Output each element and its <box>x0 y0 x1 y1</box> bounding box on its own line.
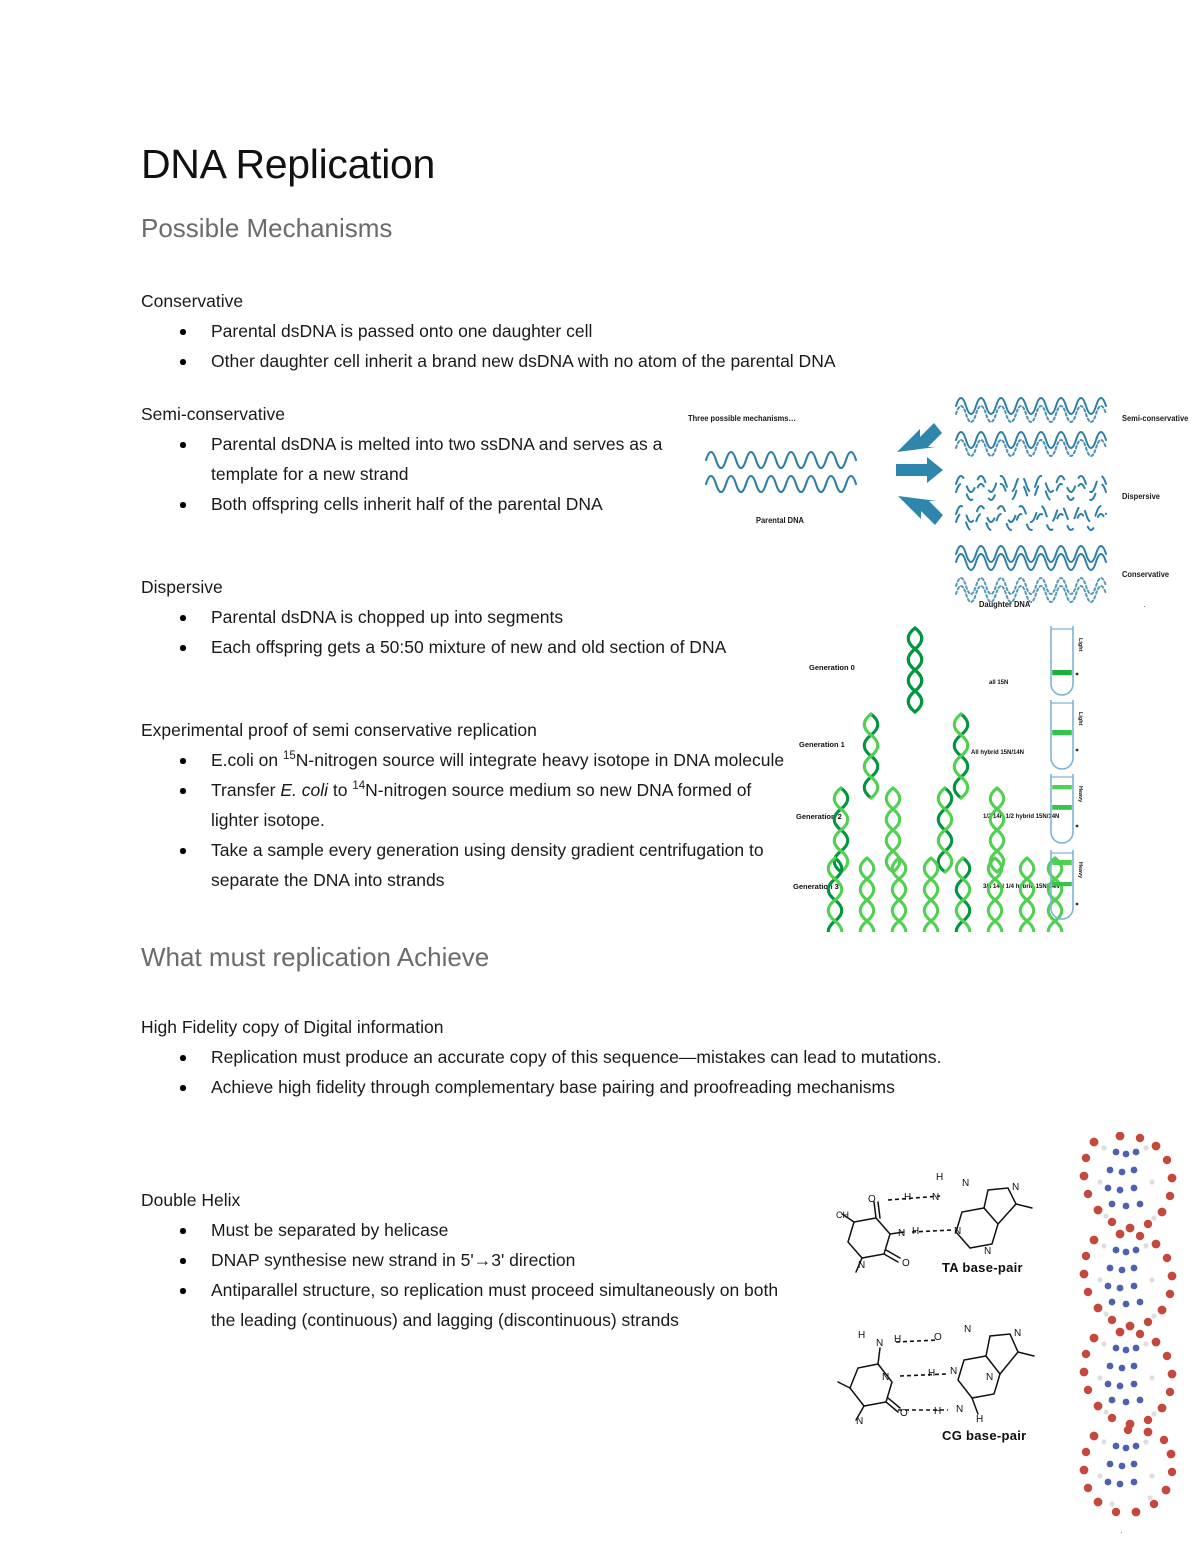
arrow-to-conservative <box>898 496 943 525</box>
svg-text:N: N <box>986 1372 993 1383</box>
group-lead: Double Helix <box>141 1185 806 1215</box>
list-item: Parental dsDNA is passed onto one daught… <box>141 316 836 346</box>
superscript-14: 14 <box>352 780 365 792</box>
dna-helix-model-svg <box>1072 1132 1194 1522</box>
group-experimental-proof: Experimental proof of semi conservative … <box>141 715 801 895</box>
hydrogen-bond <box>888 1196 952 1232</box>
list-item-transfer-14n: Transfer E. coli to 14N-nitrogen source … <box>141 775 801 835</box>
band-light <box>1052 785 1072 789</box>
svg-text:N: N <box>876 1338 883 1349</box>
run-text: E.coli on <box>211 750 283 770</box>
mechanisms-svg <box>684 392 1200 614</box>
figure-meselson-stahl: Generation 0 Generation 1 Generation 2 G… <box>793 618 1093 932</box>
meselson-stahl-svg <box>793 618 1093 932</box>
run-text: N-nitrogen source will integrate heavy i… <box>296 750 784 770</box>
list-item: Replication must produce an accurate cop… <box>141 1042 1021 1072</box>
figure-caption-ta-base-pair: TA base-pair <box>942 1260 1023 1275</box>
list-item: Achieve high fidelity through complement… <box>141 1072 1021 1102</box>
figure-cg-base-pair: H N H O N N N H N N O H N H N CG base-pa… <box>836 1320 1056 1460</box>
band-hybrid <box>1052 805 1072 810</box>
svg-text:N: N <box>984 1246 991 1257</box>
svg-text:N: N <box>856 1416 863 1427</box>
svg-text:N: N <box>858 1260 865 1271</box>
hydrogen-bond <box>896 1340 948 1410</box>
svg-text:H: H <box>934 1406 941 1417</box>
list-item: Antiparallel structure, so replication m… <box>141 1275 806 1335</box>
svg-text:N: N <box>962 1178 969 1189</box>
band-hybrid <box>1052 882 1072 886</box>
product-dispersive <box>956 476 1106 530</box>
atom-labels: H O H N N N H N N N CH O N <box>836 1172 1019 1271</box>
group-high-fidelity: High Fidelity copy of Digital informatio… <box>141 1012 1021 1102</box>
list-item: Must be separated by helicase <box>141 1215 806 1245</box>
svg-text:N: N <box>1014 1328 1021 1339</box>
generation-3-dna <box>924 858 938 932</box>
tube-side-label-2: Heavy <box>1077 786 1083 802</box>
svg-text:H: H <box>858 1330 865 1341</box>
svg-text:O: O <box>900 1408 908 1419</box>
bullet-list: Must be separated by helicase DNAP synth… <box>141 1215 806 1335</box>
svg-text:N: N <box>956 1404 963 1415</box>
superscript-15: 15 <box>283 750 296 762</box>
svg-text:N: N <box>932 1192 939 1203</box>
group-lead: Semi-conservative <box>141 399 671 429</box>
tube-side-label-0: Light <box>1077 638 1083 651</box>
svg-text:N: N <box>954 1226 961 1237</box>
run-text: to <box>328 780 352 800</box>
tube-side-label-1: Light <box>1077 712 1083 725</box>
svg-text:H: H <box>936 1172 943 1183</box>
svg-text:H: H <box>904 1192 911 1203</box>
list-item: Take a sample every generation using den… <box>141 835 801 895</box>
svg-text:N: N <box>898 1228 905 1239</box>
group-lead: Experimental proof of semi conservative … <box>141 715 801 745</box>
band-heavy <box>1052 670 1072 675</box>
parental-dna-strands <box>706 452 856 492</box>
list-item: Each offspring gets a 50:50 mixture of n… <box>141 632 801 662</box>
group-lead: High Fidelity copy of Digital informatio… <box>141 1012 1021 1042</box>
svg-text:O: O <box>934 1332 942 1343</box>
svg-text:CH: CH <box>836 1210 849 1220</box>
arrow-to-semi-conservative <box>897 423 942 452</box>
atom-labels: H N H O N N N H N N O H N H N <box>856 1324 1021 1427</box>
centrifuge-tube-0 <box>1051 626 1073 695</box>
list-item: Both offspring cells inherit half of the… <box>141 489 671 519</box>
generation-3-dna <box>1020 858 1034 932</box>
group-conservative: Conservative Parental dsDNA is passed on… <box>141 286 836 376</box>
page-mark-right: · <box>1143 602 1146 611</box>
list-item: Other daughter cell inherit a brand new … <box>141 346 836 376</box>
product-conservative <box>956 546 1106 602</box>
group-semi-conservative: Semi-conservative Parental dsDNA is melt… <box>141 399 671 519</box>
group-lead: Conservative <box>141 286 836 316</box>
figure-caption-cg-base-pair: CG base-pair <box>942 1428 1027 1443</box>
generation-3-dna <box>956 858 970 932</box>
generation-2-dna <box>938 788 952 872</box>
document-page: DNA Replication Possible Mechanisms Cons… <box>0 0 1200 1553</box>
svg-text:H: H <box>894 1334 901 1345</box>
band-hybrid <box>1052 730 1072 735</box>
list-item-ecoli-15n: E.coli on 15N-nitrogen source will integ… <box>141 745 801 775</box>
centrifuge-tube-2 <box>1051 774 1073 843</box>
generation-0-dna-dark <box>908 628 922 712</box>
cg-base-pair-svg: H N H O N N N H N N O H N H N <box>836 1320 1056 1438</box>
centrifuge-tube-1 <box>1051 700 1073 769</box>
list-item: Parental dsDNA is melted into two ssDNA … <box>141 429 671 489</box>
band-light <box>1052 860 1072 865</box>
list-item: DNAP synthesise new strand in 5'→3' dire… <box>141 1245 806 1275</box>
svg-text:N: N <box>882 1372 889 1383</box>
section-heading-possible-mechanisms: Possible Mechanisms <box>141 213 392 244</box>
svg-text:N: N <box>950 1366 957 1377</box>
svg-text:O: O <box>902 1258 910 1269</box>
svg-text:H: H <box>976 1414 983 1425</box>
generation-1-dna <box>864 714 878 798</box>
bullet-list: E.coli on 15N-nitrogen source will integ… <box>141 745 801 895</box>
bullet-list: Parental dsDNA is passed onto one daught… <box>141 316 836 376</box>
bullet-list: Replication must produce an accurate cop… <box>141 1042 1021 1102</box>
svg-text:H: H <box>928 1368 935 1379</box>
svg-text:O: O <box>868 1194 876 1205</box>
svg-text:N: N <box>1012 1182 1019 1193</box>
figure-ta-base-pair: H O H N N N H N N N CH O N TA base-pair <box>836 1168 1056 1298</box>
arrow-to-dispersive <box>896 457 943 483</box>
figure-dna-helix-model <box>1072 1132 1194 1522</box>
run-text: Transfer <box>211 780 280 800</box>
product-semi-conservative <box>956 398 1106 456</box>
page-title: DNA Replication <box>141 141 435 188</box>
svg-text:N: N <box>964 1324 971 1335</box>
group-double-helix: Double Helix Must be separated by helica… <box>141 1185 806 1335</box>
generation-3-dna <box>860 858 874 932</box>
helix-atoms <box>1080 1132 1177 1516</box>
svg-text:H: H <box>912 1226 919 1237</box>
bullet-list: Parental dsDNA is melted into two ssDNA … <box>141 429 671 519</box>
run-italic-ecoli: E. coli <box>280 780 328 800</box>
section-heading-what-must-replication-achieve: What must replication Achieve <box>141 942 489 973</box>
tube-side-label-3: Heavy <box>1077 862 1083 878</box>
figure-three-possible-mechanisms: Three possible mechanisms… Parental DNA … <box>684 392 1200 614</box>
generation-1-dna <box>954 714 968 798</box>
page-mark-bottom: · <box>1120 1528 1123 1537</box>
